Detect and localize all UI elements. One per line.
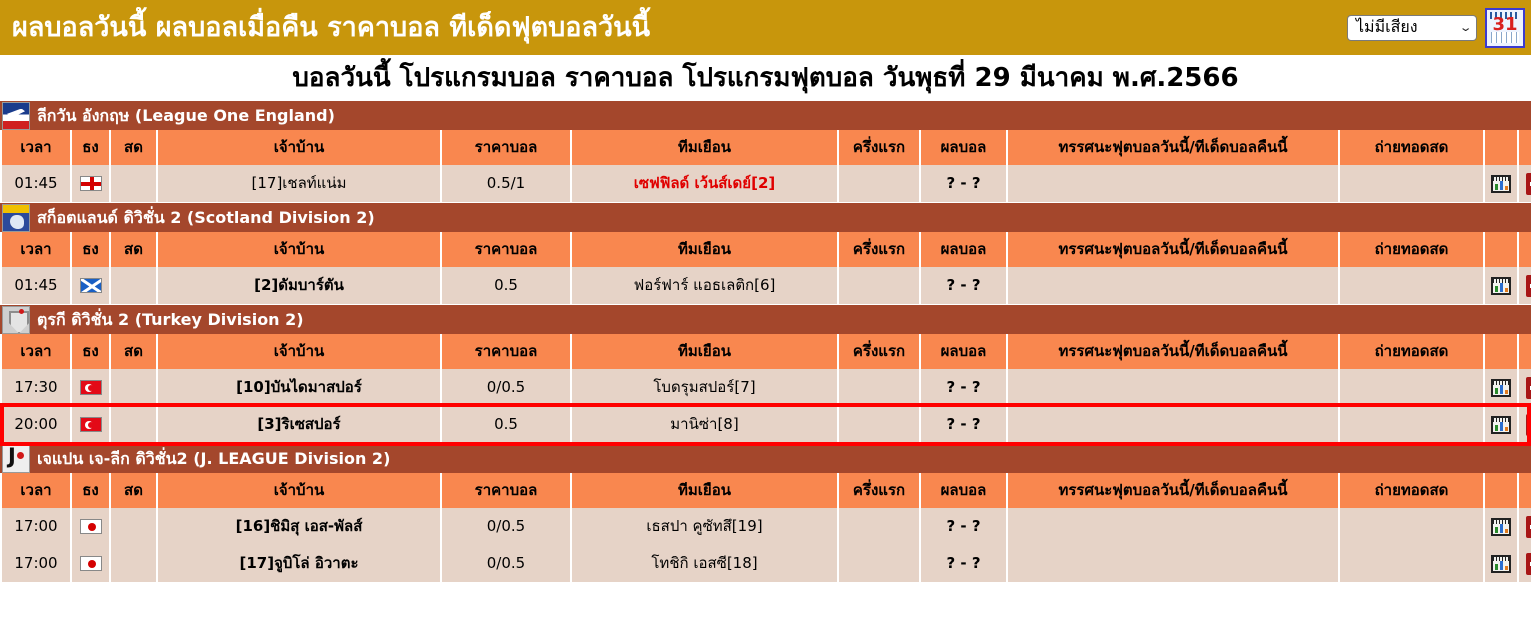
live-cell (111, 267, 156, 304)
stats-chart-icon[interactable] (1491, 416, 1511, 434)
add-cell[interactable] (1519, 545, 1531, 582)
column-header-6: ครึ่งแรก (839, 232, 919, 267)
away-team[interactable]: โทชิกิ เอสซี[18] (572, 545, 837, 582)
league-header: ตุรกี ดิวิชั่น 2 (Turkey Division 2) (0, 304, 1531, 334)
home-team[interactable]: [17]เชลท์แน่ม (158, 165, 440, 202)
column-header-1: ธง (72, 473, 109, 508)
column-header-9: ถ่ายทอดสด (1340, 232, 1483, 267)
flag-turkey-icon (80, 417, 102, 432)
home-team[interactable]: [3]ริเซสปอร์ (158, 406, 440, 443)
column-header-8: ทรรศนะฟุตบอลวันนี้/ทีเด็ดบอลคืนนี้ (1008, 473, 1338, 508)
column-header-5: ทีมเยือน (572, 130, 837, 165)
tips-cell[interactable] (1008, 406, 1338, 443)
turkey-division-logo (2, 306, 30, 334)
match-time: 20:00 (2, 406, 70, 443)
sound-select-value: ไม่มีเสียง (1356, 15, 1418, 40)
column-header-0: เวลา (2, 473, 70, 508)
match-time: 01:45 (2, 267, 70, 304)
broadcast-cell (1340, 545, 1483, 582)
tips-cell[interactable] (1008, 508, 1338, 545)
match-table: เวลาธงสดเจ้าบ้านราคาบอลทีมเยือนครึ่งแรกผ… (0, 473, 1531, 582)
away-team[interactable]: เซฟฟิลด์ เว้นส์เดย์[2] (572, 165, 837, 202)
flag-japan-icon (80, 519, 102, 534)
column-header-2: สด (111, 334, 156, 369)
table-row[interactable]: 17:00[17]จูบิโล่ อิวาตะ0/0.5โทชิกิ เอสซี… (2, 545, 1531, 582)
column-header-1: ธง (72, 334, 109, 369)
column-header-8: ทรรศนะฟุตบอลวันนี้/ทีเด็ดบอลคืนนี้ (1008, 130, 1338, 165)
chevron-down-icon: ⌄ (1458, 21, 1472, 34)
column-header-3: เจ้าบ้าน (158, 232, 440, 267)
table-row[interactable]: 01:45[2]ดัมบาร์ตัน0.5ฟอร์ฟาร์ แอธเลติก[6… (2, 267, 1531, 304)
flag-cell (72, 406, 109, 443)
match-table: เวลาธงสดเจ้าบ้านราคาบอลทีมเยือนครึ่งแรกผ… (0, 130, 1531, 202)
broadcast-cell (1340, 406, 1483, 443)
match-table: เวลาธงสดเจ้าบ้านราคาบอลทีมเยือนครึ่งแรกผ… (0, 232, 1531, 304)
column-header-7: ผลบอล (921, 232, 1006, 267)
away-team[interactable]: ฟอร์ฟาร์ แอธเลติก[6] (572, 267, 837, 304)
add-cell[interactable] (1519, 508, 1531, 545)
flag-turkey-icon (80, 380, 102, 395)
odds-value: 0/0.5 (442, 545, 570, 582)
broadcast-cell (1340, 508, 1483, 545)
league-one-england-logo (2, 102, 30, 130)
first-half-score (839, 406, 919, 443)
column-header-5: ทีมเยือน (572, 334, 837, 369)
add-plus-icon[interactable] (1526, 414, 1531, 436)
first-half-score (839, 267, 919, 304)
column-header-2: สด (111, 232, 156, 267)
column-header-8: ทรรศนะฟุตบอลวันนี้/ทีเด็ดบอลคืนนี้ (1008, 232, 1338, 267)
top-banner: ผลบอลวันนี้ ผลบอลเมื่อคืน ราคาบอล ทีเด็ด… (0, 0, 1531, 55)
flag-cell (72, 369, 109, 406)
first-half-score (839, 508, 919, 545)
live-cell (111, 545, 156, 582)
column-header-11 (1519, 130, 1531, 165)
stats-chart-icon[interactable] (1491, 518, 1511, 536)
match-score: ? - ? (921, 165, 1006, 202)
flag-japan-icon (80, 556, 102, 571)
flag-scotland-icon (80, 278, 102, 293)
live-cell (111, 165, 156, 202)
odds-value: 0.5/1 (442, 165, 570, 202)
flag-cell (72, 267, 109, 304)
odds-value: 0/0.5 (442, 508, 570, 545)
odds-value: 0.5 (442, 406, 570, 443)
site-title: ผลบอลวันนี้ ผลบอลเมื่อคืน ราคาบอล ทีเด็ด… (12, 14, 650, 41)
away-team[interactable]: เธสปา คูซัทสึ[19] (572, 508, 837, 545)
league-name[interactable]: สก็อตแลนด์ ดิวิชั่น 2 (Scotland Division… (37, 210, 375, 226)
odds-value: 0.5 (442, 267, 570, 304)
tips-cell[interactable] (1008, 165, 1338, 202)
tips-cell[interactable] (1008, 369, 1338, 406)
league-name[interactable]: ลีกวัน อังกฤษ (League One England) (37, 108, 335, 124)
league-list: ลีกวัน อังกฤษ (League One England)เวลาธง… (0, 100, 1531, 582)
league-table-wrapper: เวลาธงสดเจ้าบ้านราคาบอลทีมเยือนครึ่งแรกผ… (0, 130, 1531, 202)
home-team[interactable]: [2]ดัมบาร์ตัน (158, 267, 440, 304)
stats-cell[interactable] (1485, 165, 1517, 202)
away-team[interactable]: โบดรุมสปอร์[7] (572, 369, 837, 406)
column-header-1: ธง (72, 130, 109, 165)
first-half-score (839, 165, 919, 202)
column-header-10 (1485, 130, 1517, 165)
league-name[interactable]: ตุรกี ดิวิชั่น 2 (Turkey Division 2) (37, 312, 304, 328)
add-cell[interactable] (1519, 406, 1531, 443)
live-cell (111, 508, 156, 545)
add-cell[interactable] (1519, 267, 1531, 304)
broadcast-cell (1340, 267, 1483, 304)
table-row[interactable]: 17:30[10]บันไดมาสปอร์0/0.5โบดรุมสปอร์[7]… (2, 369, 1531, 406)
flag-cell (72, 165, 109, 202)
tips-cell[interactable] (1008, 545, 1338, 582)
column-header-7: ผลบอล (921, 334, 1006, 369)
broadcast-cell (1340, 369, 1483, 406)
stats-cell[interactable] (1485, 508, 1517, 545)
live-cell (111, 369, 156, 406)
home-team[interactable]: [17]จูบิโล่ อิวาตะ (158, 545, 440, 582)
column-header-9: ถ่ายทอดสด (1340, 130, 1483, 165)
calendar-icon[interactable]: 31 (1485, 8, 1525, 48)
league-header: สก็อตแลนด์ ดิวิชั่น 2 (Scotland Division… (0, 202, 1531, 232)
match-score: ? - ? (921, 545, 1006, 582)
top-banner-controls: ไม่มีเสียง ⌄ 31 (1347, 8, 1525, 48)
match-score: ? - ? (921, 267, 1006, 304)
column-header-11 (1519, 473, 1531, 508)
column-header-11 (1519, 232, 1531, 267)
stats-cell[interactable] (1485, 545, 1517, 582)
column-header-9: ถ่ายทอดสด (1340, 473, 1483, 508)
add-plus-icon[interactable] (1526, 516, 1531, 538)
match-score: ? - ? (921, 406, 1006, 443)
match-time: 17:30 (2, 369, 70, 406)
add-plus-icon[interactable] (1526, 173, 1531, 195)
page-title: บอลวันนี้ โปรแกรมบอล ราคาบอล โปรแกรมฟุตบ… (0, 55, 1531, 100)
column-header-4: ราคาบอล (442, 334, 570, 369)
match-time: 01:45 (2, 165, 70, 202)
column-header-0: เวลา (2, 130, 70, 165)
column-header-9: ถ่ายทอดสด (1340, 334, 1483, 369)
column-header-7: ผลบอล (921, 130, 1006, 165)
column-header-10 (1485, 334, 1517, 369)
j-league-logo (2, 445, 30, 473)
table-row[interactable]: 20:00[3]ริเซสปอร์0.5มานิซ่า[8]? - ? (2, 406, 1531, 443)
home-team[interactable]: [16]ชิมิสุ เอส-พัลส์ (158, 508, 440, 545)
add-plus-icon[interactable] (1526, 377, 1531, 399)
add-plus-icon[interactable] (1526, 275, 1531, 297)
column-header-11 (1519, 334, 1531, 369)
sound-select[interactable]: ไม่มีเสียง ⌄ (1347, 15, 1477, 41)
calendar-grid (1491, 32, 1519, 43)
first-half-score (839, 369, 919, 406)
column-header-6: ครึ่งแรก (839, 473, 919, 508)
column-header-4: ราคาบอล (442, 232, 570, 267)
first-half-score (839, 545, 919, 582)
stats-cell[interactable] (1485, 369, 1517, 406)
column-header-4: ราคาบอล (442, 130, 570, 165)
stats-chart-icon[interactable] (1491, 175, 1511, 193)
add-plus-icon[interactable] (1526, 553, 1531, 575)
column-header-10 (1485, 473, 1517, 508)
match-time: 17:00 (2, 545, 70, 582)
flag-cell (72, 545, 109, 582)
stats-chart-icon[interactable] (1491, 555, 1511, 573)
match-time: 17:00 (2, 508, 70, 545)
column-header-3: เจ้าบ้าน (158, 473, 440, 508)
column-header-5: ทีมเยือน (572, 232, 837, 267)
column-header-3: เจ้าบ้าน (158, 334, 440, 369)
stats-chart-icon[interactable] (1491, 277, 1511, 295)
column-header-2: สด (111, 130, 156, 165)
table-row[interactable]: 01:45[17]เชลท์แน่ม0.5/1เซฟฟิลด์ เว้นส์เด… (2, 165, 1531, 202)
column-header-4: ราคาบอล (442, 473, 570, 508)
add-cell[interactable] (1519, 369, 1531, 406)
league-header: เจแปน เจ-ลีก ดิวิชั่น2 (J. LEAGUE Divisi… (0, 443, 1531, 473)
stats-cell[interactable] (1485, 267, 1517, 304)
table-header-row: เวลาธงสดเจ้าบ้านราคาบอลทีมเยือนครึ่งแรกผ… (2, 334, 1531, 369)
column-header-5: ทีมเยือน (572, 473, 837, 508)
table-row[interactable]: 17:00[16]ชิมิสุ เอส-พัลส์0/0.5เธสปา คูซั… (2, 508, 1531, 545)
column-header-8: ทรรศนะฟุตบอลวันนี้/ทีเด็ดบอลคืนนี้ (1008, 334, 1338, 369)
flag-cell (72, 508, 109, 545)
column-header-6: ครึ่งแรก (839, 130, 919, 165)
column-header-0: เวลา (2, 334, 70, 369)
table-header-row: เวลาธงสดเจ้าบ้านราคาบอลทีมเยือนครึ่งแรกผ… (2, 130, 1531, 165)
match-table: เวลาธงสดเจ้าบ้านราคาบอลทีมเยือนครึ่งแรกผ… (0, 334, 1531, 443)
league-table-wrapper: เวลาธงสดเจ้าบ้านราคาบอลทีมเยือนครึ่งแรกผ… (0, 473, 1531, 582)
add-cell[interactable] (1519, 165, 1531, 202)
page-root: ผลบอลวันนี้ ผลบอลเมื่อคืน ราคาบอล ทีเด็ด… (0, 0, 1531, 635)
league-table-wrapper: เวลาธงสดเจ้าบ้านราคาบอลทีมเยือนครึ่งแรกผ… (0, 232, 1531, 304)
table-header-row: เวลาธงสดเจ้าบ้านราคาบอลทีมเยือนครึ่งแรกผ… (2, 473, 1531, 508)
match-score: ? - ? (921, 508, 1006, 545)
tips-cell[interactable] (1008, 267, 1338, 304)
match-score: ? - ? (921, 369, 1006, 406)
column-header-3: เจ้าบ้าน (158, 130, 440, 165)
live-cell (111, 406, 156, 443)
column-header-7: ผลบอล (921, 473, 1006, 508)
stats-chart-icon[interactable] (1491, 379, 1511, 397)
scotland-sfl-logo (2, 204, 30, 232)
column-header-10 (1485, 232, 1517, 267)
column-header-0: เวลา (2, 232, 70, 267)
league-name[interactable]: เจแปน เจ-ลีก ดิวิชั่น2 (J. LEAGUE Divisi… (37, 451, 390, 467)
league-table-wrapper: เวลาธงสดเจ้าบ้านราคาบอลทีมเยือนครึ่งแรกผ… (0, 334, 1531, 443)
column-header-2: สด (111, 473, 156, 508)
stats-cell[interactable] (1485, 406, 1517, 443)
home-team[interactable]: [10]บันไดมาสปอร์ (158, 369, 440, 406)
flag-england-icon (80, 176, 102, 191)
column-header-1: ธง (72, 232, 109, 267)
odds-value: 0/0.5 (442, 369, 570, 406)
league-header: ลีกวัน อังกฤษ (League One England) (0, 100, 1531, 130)
table-header-row: เวลาธงสดเจ้าบ้านราคาบอลทีมเยือนครึ่งแรกผ… (2, 232, 1531, 267)
column-header-6: ครึ่งแรก (839, 334, 919, 369)
away-team[interactable]: มานิซ่า[8] (572, 406, 837, 443)
broadcast-cell (1340, 165, 1483, 202)
